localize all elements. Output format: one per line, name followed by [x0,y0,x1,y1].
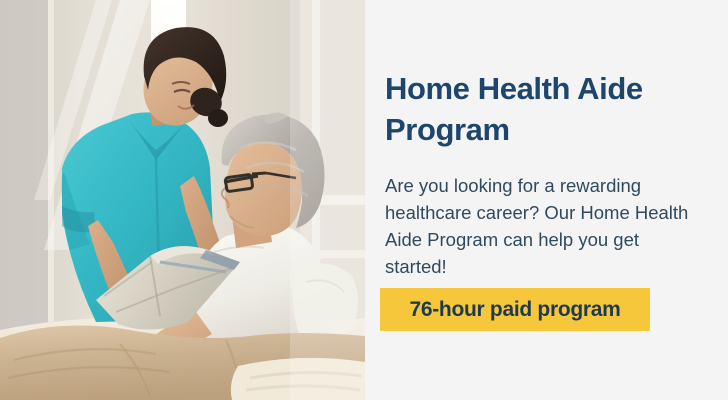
cta-button-label: 76-hour paid program [409,298,620,322]
caregiver-with-elderly-woman-photo [0,0,365,400]
content-panel: Home Health Aide Program Are you looking… [365,0,728,400]
page-title: Home Health Aide Program [385,68,705,150]
photo-illustration [0,0,365,400]
program-cta-button[interactable]: 76-hour paid program [380,288,650,331]
promo-banner: Home Health Aide Program Are you looking… [0,0,728,400]
description-text: Are you looking for a rewarding healthca… [385,172,697,280]
